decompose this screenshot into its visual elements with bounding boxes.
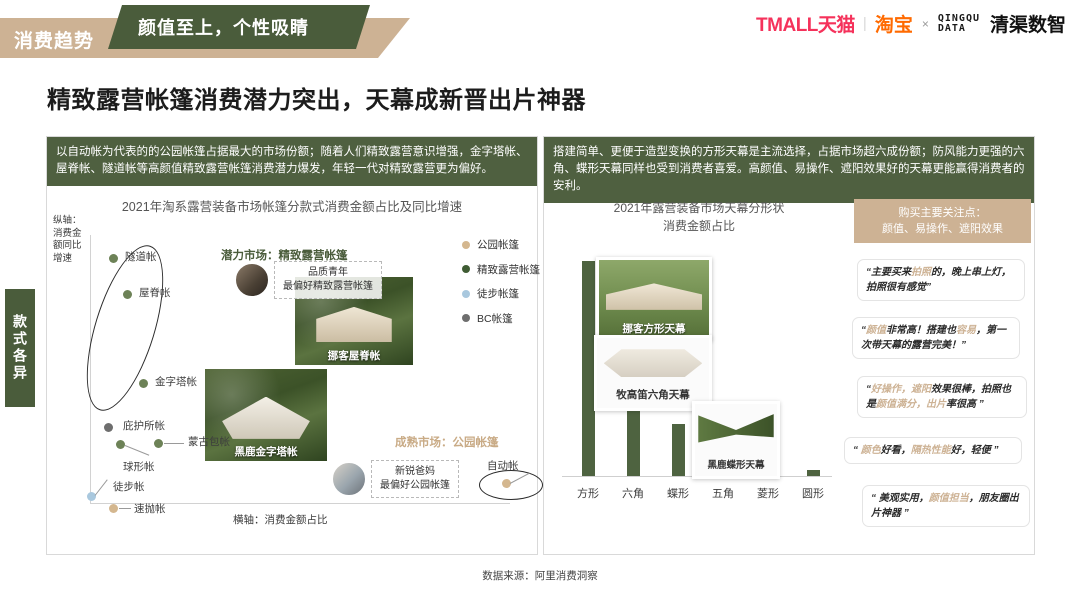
scatter-label-hiking: 徒步帐 [113, 479, 145, 494]
scatter-point-dome [116, 440, 125, 449]
bar-circle [807, 470, 820, 476]
potential-market-ellipse [71, 237, 179, 419]
brand-logos: TMALL天猫 | 淘宝 × QINGQU DATA 清渠数智 [756, 10, 1066, 37]
bar-xlabel-square: 方形 [568, 485, 608, 501]
persona-line2: 最偏好精致露营帐篷 [283, 280, 373, 294]
quote-1: “主要买来拍照的，晚上串上灯，拍照很有感觉” [857, 259, 1025, 301]
persona-box: 品质青年 最偏好精致露营帐篷 [274, 261, 382, 299]
scatter-label-auto: 自动帐 [487, 458, 519, 473]
leader-line-yurt [164, 443, 184, 444]
legend-dot-icon [462, 290, 470, 298]
tarp-shape [604, 349, 703, 377]
purchase-focus-body: 颜值、易操作、遮阳效果 [858, 221, 1027, 237]
qingqu-logo-en: QINGQU DATA [938, 14, 980, 34]
side-tab-label: 款式各异 [5, 289, 35, 407]
scatter-label-dome: 球形帐 [123, 459, 155, 474]
right-chart-title: 2021年露营装备市场天幕分形状 消费金额占比 [556, 199, 842, 235]
legend-label: 徒步帐篷 [477, 286, 519, 301]
legend-label: 精致露营帐篷 [477, 262, 540, 277]
y-axis-label: 纵轴：消费金额同比增速 [53, 215, 83, 265]
bar-xlabel-pentagon: 五角 [703, 485, 743, 501]
leader-line-dome [125, 445, 149, 456]
tag-mature-market: 成熟市场：公园帐篷 [395, 434, 499, 450]
tarp-shape [606, 283, 703, 310]
persona-new-parents: 新锐爸妈 最偏好公园帐篷 [332, 460, 459, 498]
photo-nuoke-square-tarp: 挪客方形天幕 [596, 257, 712, 341]
scatter-point-tunnel [109, 254, 118, 263]
photo-caption: 牧高笛六角天幕 [597, 387, 709, 402]
photo-caption: 挪客屋脊帐 [295, 348, 413, 363]
right-panel: 搭建简单、更便于造型变换的方形天幕是主流选择，占据市场超六成份额；防风能力更强的… [543, 136, 1035, 555]
section-headline: 颜值至上，个性吸睛 [138, 14, 309, 40]
photo-heilu-butterfly-tarp: 黑鹿蝶形天幕 [692, 401, 780, 479]
scatter-legend: 公园帐篷 精致露营帐篷 徒步帐篷 BC帐篷 [462, 237, 540, 335]
quote-5: “ 美观实用，颜值担当，朋友圈出片神器 ” [862, 485, 1030, 527]
qingqu-logo-line2: DATA [938, 24, 980, 34]
mature-market-ellipse [479, 470, 543, 500]
bar-butterfly [672, 424, 685, 476]
taobao-logo: 淘宝 [875, 10, 913, 37]
legend-item: BC帐篷 [462, 311, 540, 326]
persona-line2: 最偏好公园帐篷 [380, 479, 450, 493]
quote-text: “ 美观实用，颜值担当，朋友圈出片神器 ” [871, 493, 1019, 519]
legend-label: 公园帐篷 [477, 237, 519, 252]
quote-text: “主要买来拍照的，晚上串上灯，拍照很有感觉” [866, 267, 1011, 293]
legend-label: BC帐篷 [477, 311, 513, 326]
tmall-logo: TMALL天猫 [756, 10, 855, 37]
qingqu-logo-cn: 清渠数智 [990, 10, 1066, 37]
data-source: 数据来源：阿里消费洞察 [0, 568, 1080, 583]
bar-hexagon [627, 408, 640, 476]
avatar [332, 462, 366, 496]
scatter-label-ridge: 屋脊帐 [139, 285, 171, 300]
scatter-point-shelter [104, 423, 113, 432]
leader-line-hiking [95, 479, 108, 495]
qingqu-logo-line1: QINGQU [938, 14, 980, 24]
scatter-label-popup: 速抛帐 [134, 501, 166, 516]
quote-text: “好操作，遮阳效果很棒，拍照也是颜值满分，出片率很高 ” [866, 384, 1011, 410]
photo-mgd-hex-tarp: 牧高笛六角天幕 [594, 335, 712, 411]
bar-xlabel-circle: 圆形 [793, 485, 833, 501]
x-axis-label: 横轴：消费金额占比 [233, 512, 328, 527]
legend-item: 精致露营帐篷 [462, 262, 540, 277]
scatter-label-yurt: 蒙古包帐 [188, 434, 230, 449]
legend-dot-icon [462, 265, 470, 273]
right-summary-text: 搭建简单、更便于造型变换的方形天幕是主流选择，占据市场超六成份额；防风能力更强的… [544, 137, 1034, 203]
leader-line-popup [119, 508, 131, 509]
logo-divider: | [863, 15, 867, 32]
photo-caption: 挪客方形天幕 [599, 321, 709, 336]
scatter-label-pyramid: 金字塔帐 [155, 374, 197, 389]
scatter-point-popup [109, 504, 118, 513]
legend-item: 公园帐篷 [462, 237, 540, 252]
bar-xlabel-butterfly: 蝶形 [658, 485, 698, 501]
legend-dot-icon [462, 314, 470, 322]
scatter-label-shelter: 庇护所帐 [123, 418, 165, 433]
page-title: 精致露营帐篷消费潜力突出，天幕成新晋出片神器 [47, 80, 586, 115]
right-chart-title-line2: 消费金额占比 [556, 217, 842, 235]
logo-cross-icon: × [922, 17, 929, 31]
scatter-point-yurt [154, 439, 163, 448]
scatter-point-ridge [123, 290, 132, 299]
legend-item: 徒步帐篷 [462, 286, 540, 301]
quote-text: “颜值非常高！搭建也容易，第一次带天幕的露营完美！” [861, 325, 1006, 351]
bar-chart: 方形 六角 蝶形 五角 菱形 圆形 挪客方形天幕 牧高笛六角天幕 黑鹿蝶形天幕 [554, 255, 844, 505]
quote-text: “ 颜色好看，隔热性能好，轻便 ” [853, 445, 999, 456]
persona-quality-youth: 品质青年 最偏好精致露营帐篷 [235, 261, 382, 299]
page-header: 消费趋势 颜值至上，个性吸睛 TMALL天猫 | 淘宝 × QINGQU DAT… [0, 0, 1080, 62]
right-chart-title-line1: 2021年露营装备市场天幕分形状 [556, 199, 842, 217]
photo-caption: 黑鹿蝶形天幕 [695, 457, 777, 471]
scatter-point-pyramid [139, 379, 148, 388]
persona-line1: 新锐爸妈 [380, 465, 450, 479]
quote-3: “好操作，遮阳效果很棒，拍照也是颜值满分，出片率很高 ” [857, 376, 1027, 418]
persona-box: 新锐爸妈 最偏好公园帐篷 [371, 460, 459, 498]
scatter-chart: 纵轴：消费金额同比增速 横轴：消费金额占比 潜力市场：精致露营帐篷 成熟市场：公… [47, 137, 537, 554]
bar-xlabel-rhombus: 菱形 [748, 485, 788, 501]
purchase-focus-title: 购买主要关注点： [858, 205, 1027, 221]
scatter-label-tunnel: 隧道帐 [125, 249, 157, 264]
left-panel: 以自动帐为代表的的公园帐篷占据最大的市场份额；随着人们精致露营意识增强，金字塔帐… [46, 136, 538, 555]
persona-line1: 品质青年 [283, 266, 373, 280]
quote-4: “ 颜色好看，隔热性能好，轻便 ” [844, 437, 1022, 464]
legend-dot-icon [462, 241, 470, 249]
tarp-shape [698, 414, 773, 447]
purchase-focus-box: 购买主要关注点： 颜值、易操作、遮阳效果 [854, 199, 1031, 243]
quote-2: “颜值非常高！搭建也容易，第一次带天幕的露营完美！” [852, 317, 1020, 359]
bar-xlabel-hexagon: 六角 [613, 485, 653, 501]
avatar [235, 263, 269, 297]
section-kicker: 消费趋势 [14, 26, 94, 53]
